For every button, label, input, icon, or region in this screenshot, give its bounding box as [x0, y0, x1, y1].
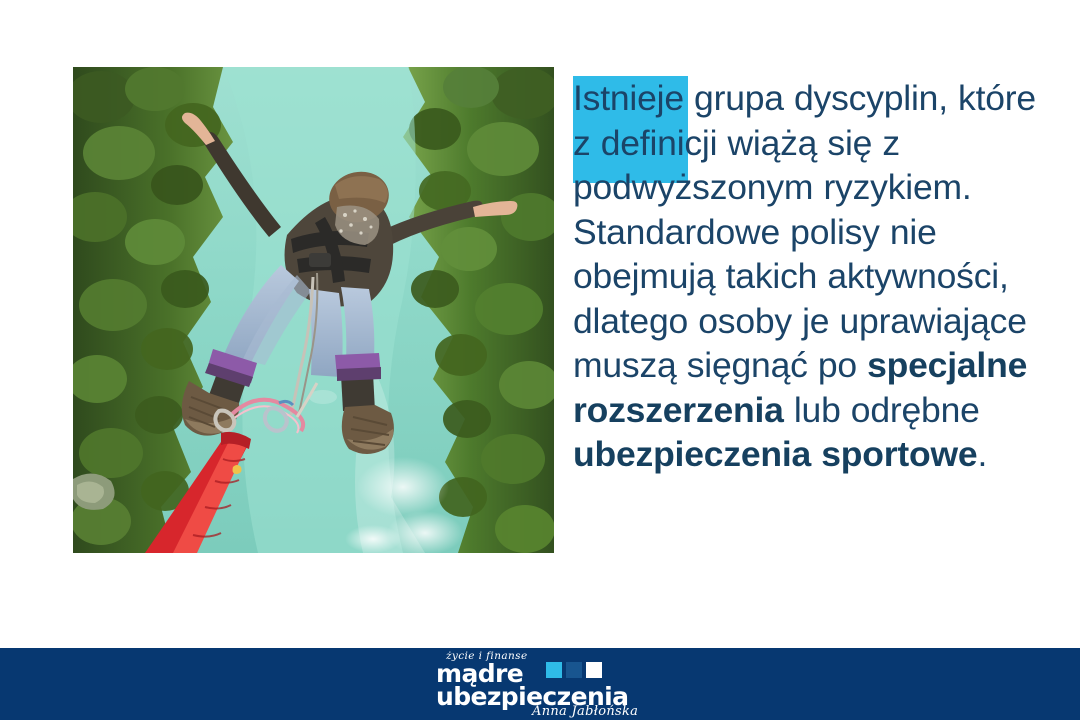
- square-white-icon: [586, 662, 602, 678]
- body-paragraph: Istnieje grupa dyscyplin, które z defini…: [573, 76, 1043, 477]
- square-light-blue-icon: [546, 662, 562, 678]
- text-column: Istnieje grupa dyscyplin, które z defini…: [573, 76, 1043, 556]
- slide-root: Istnieje grupa dyscyplin, które z defini…: [0, 0, 1080, 720]
- footer-bar: życie i finanse mądre ubezpieczenia Anna…: [0, 648, 1080, 720]
- paragraph-plain-3: .: [977, 434, 987, 474]
- paragraph-plain-1: Istnieje grupa dyscyplin, które z defini…: [573, 78, 1036, 385]
- brand-logo[interactable]: życie i finanse mądre ubezpieczenia Anna…: [410, 648, 670, 720]
- photo-illustration: [73, 67, 554, 553]
- paragraph-plain-2: lub odrębne: [784, 390, 980, 430]
- square-mid-blue-icon: [566, 662, 582, 678]
- bungee-jump-photo: [73, 67, 554, 553]
- paragraph-bold-2: ubezpieczenia sportowe: [573, 434, 977, 474]
- logo-squares-group: [546, 662, 602, 678]
- logo-signature: Anna Jabłońska: [532, 704, 638, 719]
